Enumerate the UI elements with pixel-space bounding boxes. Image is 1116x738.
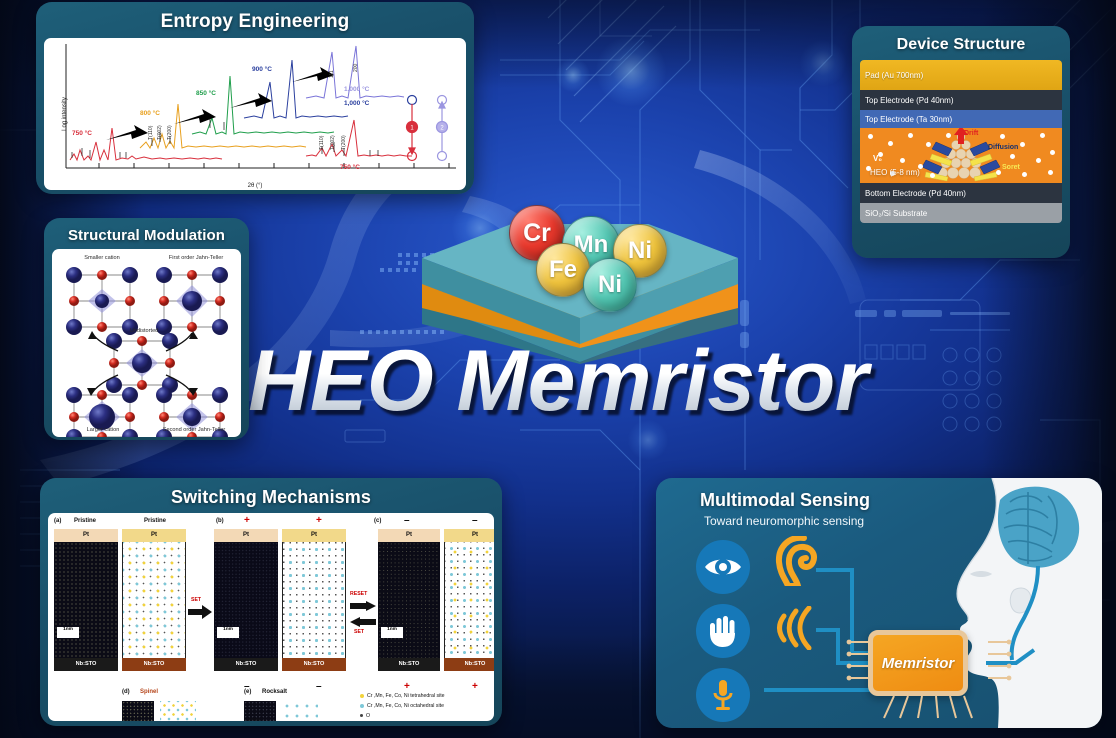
set-arrow-label-1: SET [191,597,201,603]
device-layer-stack: Pad (Au 700nm) Top Electrode (Pd 40nm) T… [860,60,1062,223]
xrd-chart: Log intensity 2θ (°) [44,38,466,190]
xrd-series-label-750-bottom: 750 °C [340,164,360,171]
subfigure-tag-d: (d) [122,689,130,695]
subfigure-tag-c: (c) [374,518,381,524]
reset-arrow-label: RESET [350,591,367,597]
panel-title-switching: Switching Mechanisms [48,486,494,509]
panel-device-structure: Device Structure Pad (Au 700nm) Top Elec… [852,26,1070,258]
panel-switching-mechanisms: Switching Mechanisms (a) Pristine Pristi… [40,478,502,726]
state-label-pristine-1: Pristine [74,518,96,524]
panel-structural-modulation: Structural Modulation [44,218,249,440]
element-sphere-label: Ni [628,237,652,265]
polarity-plus-b2: + [316,517,322,525]
panel-title-device: Device Structure [860,35,1062,55]
phase-label-rocksalt: Rocksalt [262,689,287,695]
scale-bar: 1nm [217,627,239,638]
mechanism-label-drift: Drift [964,130,978,137]
device-layer-label-pad: Pad (Au 700nm) [860,71,923,80]
legend-text-octahedral: Cr ,Mn, Fe, Co, Ni octahedral site [367,703,444,709]
eye-icon [704,554,742,580]
element-sphere-fe: Fe [536,243,590,297]
device-layer-label-heo: HEO (5-8 nm) [865,168,920,177]
set-arrow-1 [188,605,212,619]
haadf-image-pristine: Pt Nb:STO 1nm [54,529,118,679]
xrd-peak-label-t002-a: T(002) [157,125,163,140]
electrode-label-pt: Pt [214,529,278,542]
legend-swatch-octahedral [360,704,364,708]
atomic-model-reset: Pt Nb:STO [444,529,494,679]
device-layer-label-tepd: Top Electrode (Pd 40nm) [860,96,954,105]
panel-title-entropy: Entropy Engineering [44,10,466,34]
panel-title-structural: Structural Modulation [52,226,241,245]
xrd-series-label-1000-top: 1,000 °C [344,86,369,93]
polarity-minus-b2: – [316,683,322,691]
device-layer-top-electrode-pd: Top Electrode (Pd 40nm) [860,90,1062,110]
xrd-peak-label-111: 111 [329,70,335,78]
device-layer-top-electrode-ta: Top Electrode (Ta 30nm) [860,110,1062,128]
label-smaller-cation: Smaller cation [66,255,138,261]
vacancy-label: V₀ [873,154,882,163]
subfigure-tag-b: (b) [216,518,224,524]
xrd-peak-label-t200-b: T(200) [341,135,347,150]
device-layer-heo: Drift Diffusion Soret V₀ HEO (5-8 nm) [860,128,1062,183]
atomic-model-set: Pt Nb:STO [282,529,346,679]
electrode-label-pt: Pt [54,529,118,542]
zone-axis-label-d: Z.A.[001] [122,717,138,721]
device-layer-label-substrate: SiO₂/Si Substrate [860,209,927,218]
reset-set-arrows [350,601,376,627]
legend-text-oxygen: O [366,713,370,719]
substrate-label-nbsto: Nb:STO [54,658,118,671]
sensor-icon-eye[interactable] [696,540,750,594]
switching-figure: (a) Pristine Pristine Pt Nb:STO 1nm Pt N… [48,513,494,721]
haadf-image-set: Pt Nb:STO 1nm [214,529,278,679]
xrd-series-label-750: 750 °C [72,130,92,137]
mechanism-label-diffusion: Diffusion [988,144,1018,151]
sensor-icon-microphone[interactable] [696,668,750,722]
label-undistorted: Undistorted [114,328,174,334]
legend-text-tetrahedral: Cr ,Mn, Fe, Co, Ni tetrahedral site [367,693,445,699]
zone-axis-label-e: Z.A.[001] [244,717,260,721]
xrd-series-label-800: 800 °C [140,110,160,117]
ear-icon[interactable] [774,536,820,586]
electrode-label-pt: Pt [122,529,186,542]
polarity-plus-b1: + [244,517,250,525]
xrd-series-label-850: 850 °C [196,90,216,97]
substrate-label-nbsto: Nb:STO [214,658,278,671]
legend-item-oxygen: O [360,713,370,719]
atomic-model-pristine: Pt Nb:STO [122,529,186,679]
phase-label-spinel: Spinel [140,689,158,695]
scale-bar: 1nm [57,627,79,638]
legend-item-tetrahedral: Cr ,Mn, Fe, Co, Ni tetrahedral site [360,693,445,699]
jahn-teller-diagram: Smaller cation First order Jahn-Teller U… [52,249,241,437]
label-first-order-jahn-teller: First order Jahn-Teller [152,255,240,261]
label-second-order-jahn-teller: Second order Jahn-Teller [148,427,240,433]
sensor-icon-hand[interactable] [696,604,750,658]
rocksalt-model [282,701,318,721]
device-layer-bottom-electrode: Bottom Electrode (Pd 40nm) [860,183,1062,203]
graphical-abstract-canvas: Cr Mn Ni Fe Ni HEO Memristor Entropy Eng… [0,0,1116,738]
panel-entropy-engineering: Entropy Engineering Log intensity 2θ (°) [36,2,474,194]
substrate-label-nbsto: Nb:STO [444,658,494,671]
hand-icon [708,615,738,647]
subfigure-tag-e: (e) [244,689,251,695]
substrate-label-nbsto: Nb:STO [378,658,440,671]
device-layer-label-teta: Top Electrode (Ta 30nm) [860,115,952,124]
legend-swatch-tetrahedral [360,694,364,698]
xrd-peak-label-t110-b: T(110) [319,136,325,150]
chip-pins [836,628,1026,724]
octahedra-graphic [52,249,241,437]
spinel-model [160,701,196,721]
legend-swatch-oxygen [360,714,363,717]
haadf-image-reset: Pt Nb:STO 1nm [378,529,440,679]
xrd-peak-label-t110-a: T(110) [148,126,154,140]
microphone-icon [711,679,735,711]
subfigure-tag-a: (a) [54,518,61,524]
element-sphere-label: Ni [598,271,622,299]
xrd-series-label-1000: 1,000 °C [344,100,369,107]
xrd-peak-label-t200-a: T(200) [167,125,173,140]
polarity-plus-c1: + [404,683,410,691]
polarity-minus-c1: – [404,517,410,525]
device-layer-pad: Pad (Au 700nm) [860,60,1062,90]
xrd-traces: 1 2 [44,38,466,190]
substrate-label-nbsto: Nb:STO [282,658,346,671]
polarity-plus-c2: + [472,683,478,691]
substrate-label-nbsto: Nb:STO [122,658,186,671]
sound-wave-icon[interactable] [776,606,824,650]
electrode-label-pt: Pt [444,529,494,542]
element-sphere-label: Cr [523,219,551,248]
legend-item-octahedral: Cr ,Mn, Fe, Co, Ni octahedral site [360,703,444,709]
set-arrow-label-2: SET [354,629,364,635]
xrd-peak-label-t002-b: T(002) [330,135,336,150]
electrode-label-pt: Pt [378,529,440,542]
device-layer-substrate: SiO₂/Si Substrate [860,203,1062,223]
mechanism-label-soret: Soret [1002,164,1020,171]
electrode-label-pt: Pt [282,529,346,542]
element-sphere-ni-2: Ni [583,258,637,312]
device-layer-label-bepd: Bottom Electrode (Pd 40nm) [860,189,966,198]
xrd-peak-label-200: 200 [353,64,359,72]
polarity-minus-c2: – [472,517,478,525]
panel-multimodal-sensing: Multimodal Sensing Toward neuromorphic s… [656,478,1102,728]
xrd-series-label-900: 900 °C [252,66,272,73]
state-label-pristine-2: Pristine [144,518,166,524]
element-sphere-label: Fe [549,256,577,284]
label-larger-cation: Larger cation [68,427,138,433]
scale-bar: 1nm [381,627,403,638]
